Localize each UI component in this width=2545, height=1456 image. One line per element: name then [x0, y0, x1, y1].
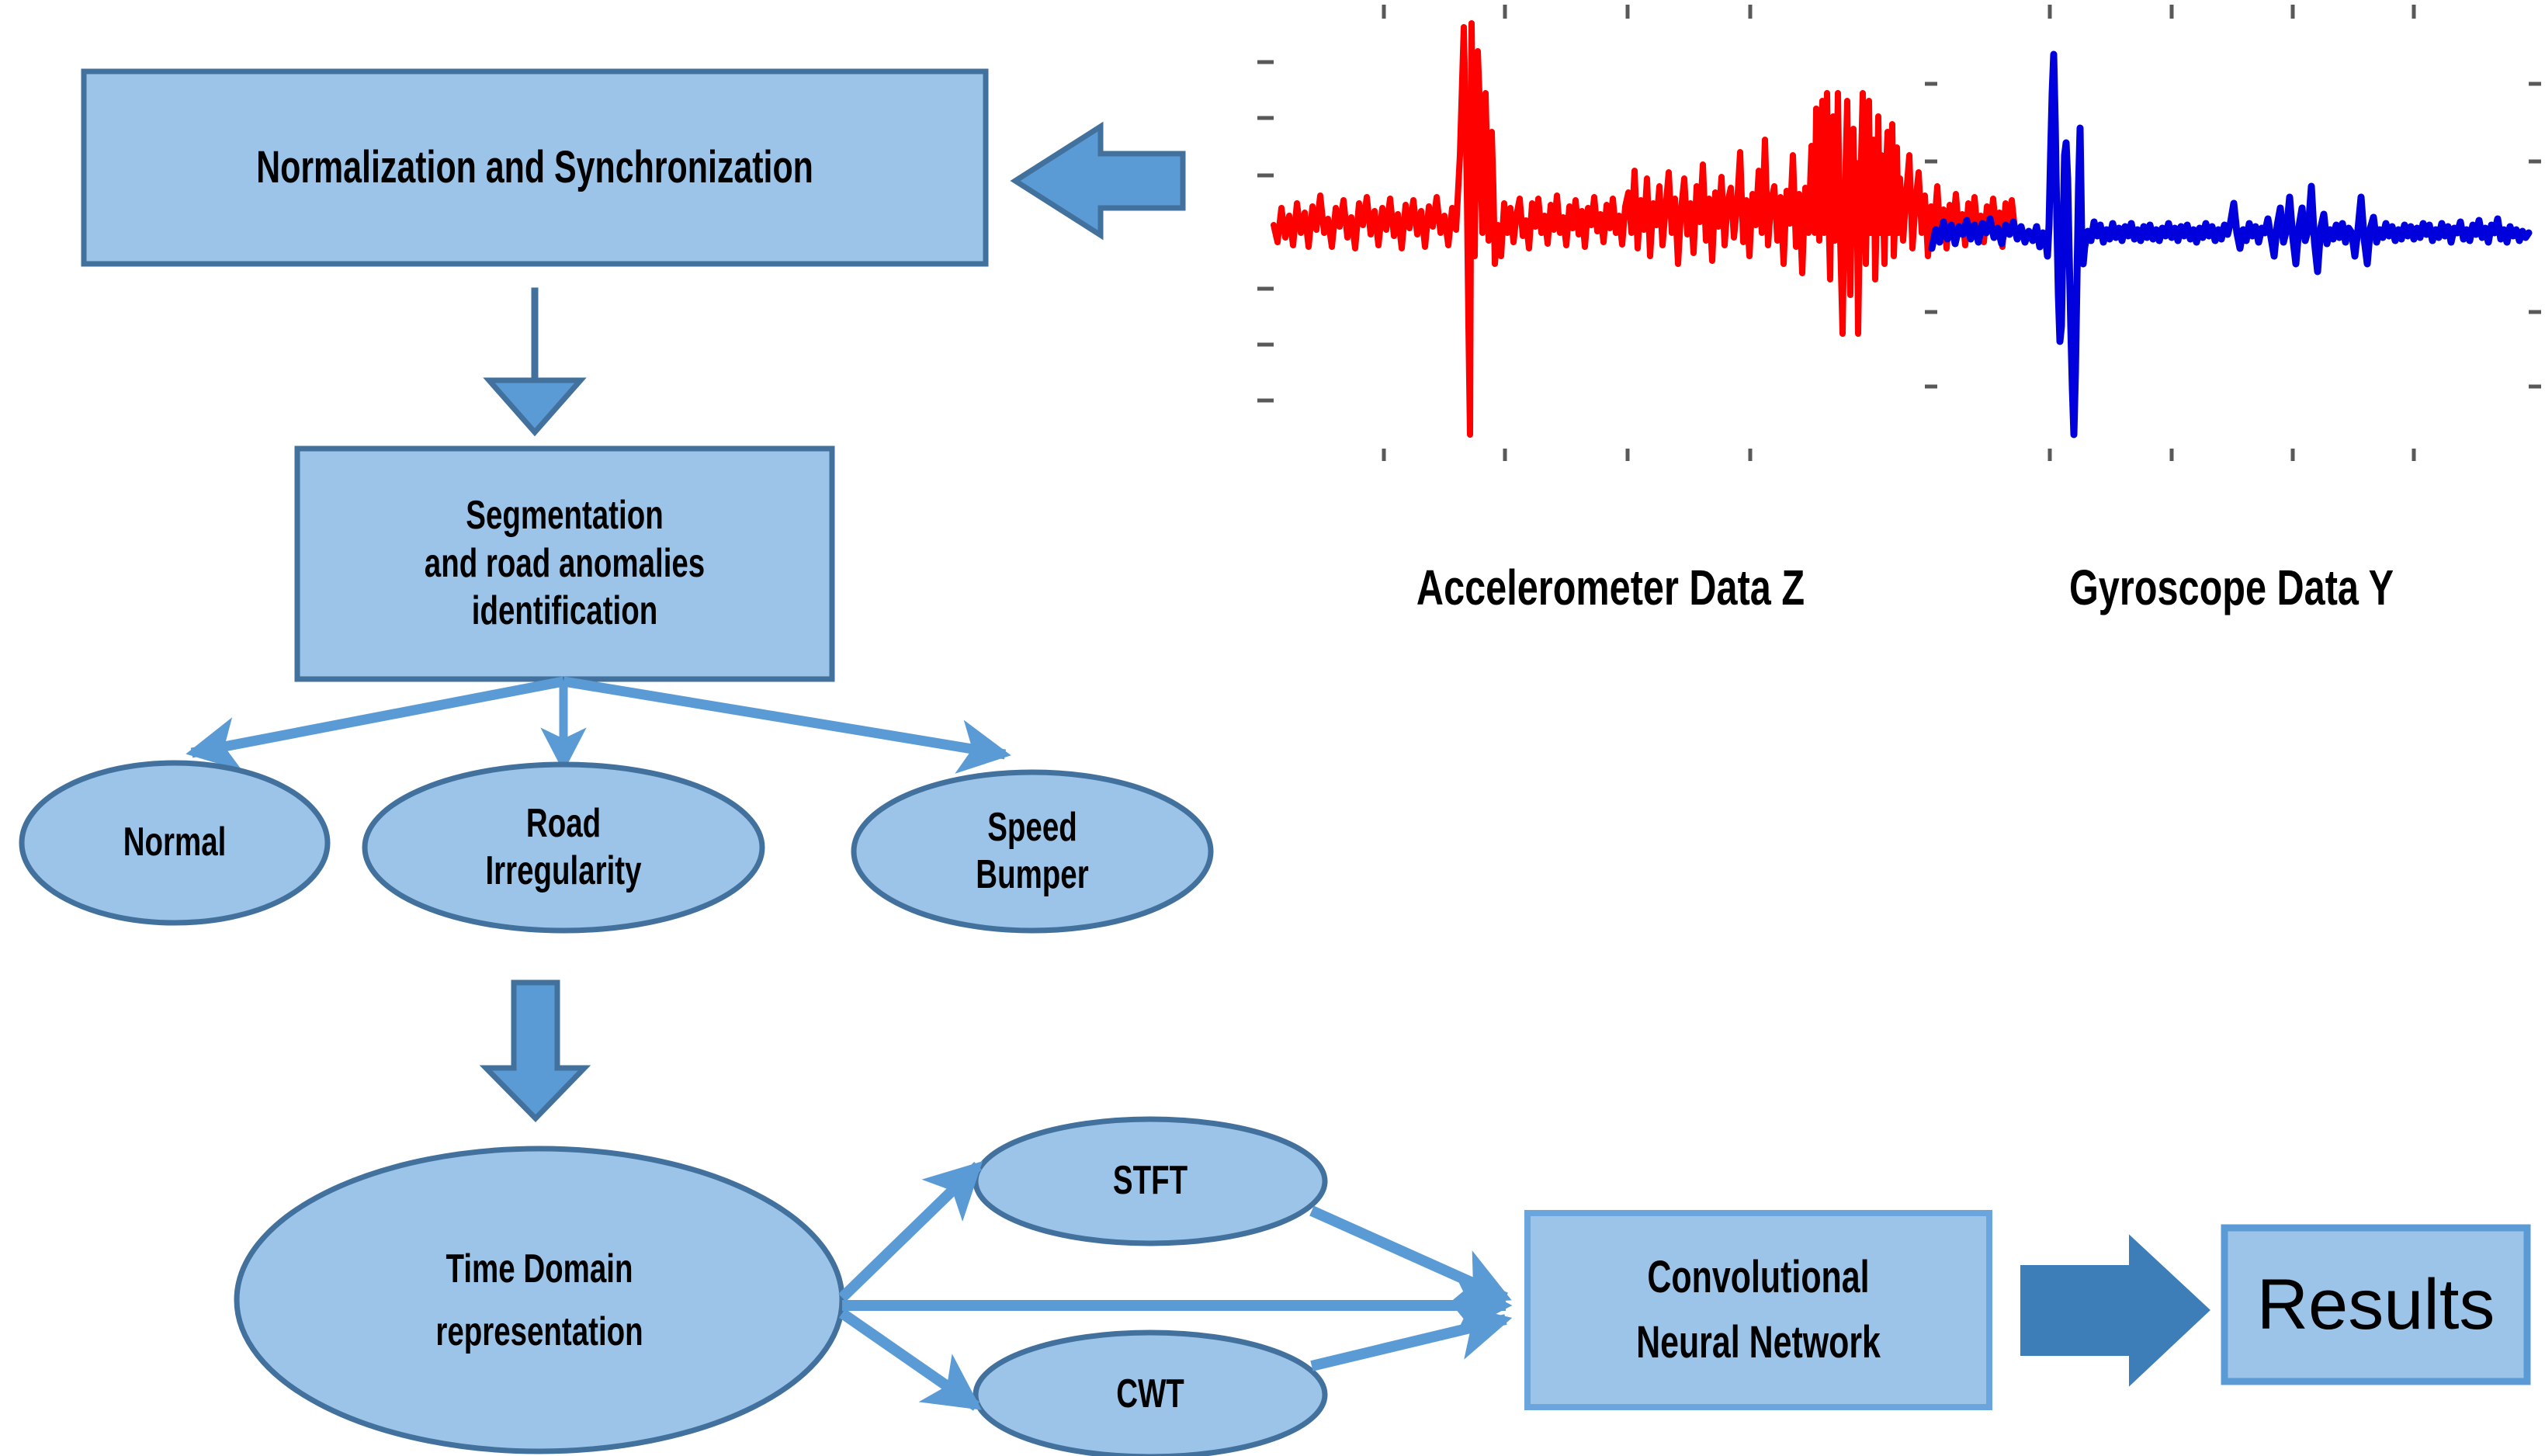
- node-time-domain[interactable]: [237, 1149, 842, 1451]
- node-segmentation[interactable]: [297, 449, 832, 679]
- diagram-canvas: Normalization and Synchronization Segmen…: [0, 0, 2545, 1456]
- connector-timedomain-cwt: [842, 1313, 976, 1406]
- connector-segmentation-normal: [192, 681, 563, 753]
- arrow-plots-to-normalization: [1015, 127, 1183, 235]
- connector-stft-cnn: [1312, 1211, 1506, 1298]
- arrow-cnn-to-results: [2022, 1238, 2208, 1383]
- gyroscope-trace: [1932, 54, 2529, 435]
- node-results-label: Results: [2224, 1228, 2527, 1381]
- gyroscope-plot-caption: Gyroscope Data Y: [1999, 553, 2464, 622]
- connector-segmentation-speed-bumper: [563, 681, 1005, 754]
- node-cnn[interactable]: [1527, 1213, 1989, 1407]
- connector-timedomain-stft: [842, 1166, 978, 1298]
- gyroscope-plot: [1925, 5, 2541, 461]
- accelerometer-plot-caption: Accelerometer Data Z: [1354, 553, 1867, 622]
- arrow-roadirregularity-to-timedomain: [486, 983, 584, 1118]
- diagram-svg: [0, 0, 2545, 1456]
- accelerometer-trace: [1274, 23, 2015, 435]
- arrow-normalization-to-segmentation: [489, 290, 581, 432]
- connector-cwt-cnn: [1312, 1319, 1506, 1366]
- node-cwt[interactable]: [976, 1333, 1325, 1456]
- node-normal[interactable]: [22, 763, 328, 923]
- node-stft[interactable]: [976, 1119, 1325, 1243]
- accelerometer-plot: [1257, 5, 2015, 461]
- node-speed-bumper[interactable]: [854, 772, 1211, 931]
- node-normalization[interactable]: [84, 71, 986, 264]
- node-road-irregularity[interactable]: [365, 764, 762, 931]
